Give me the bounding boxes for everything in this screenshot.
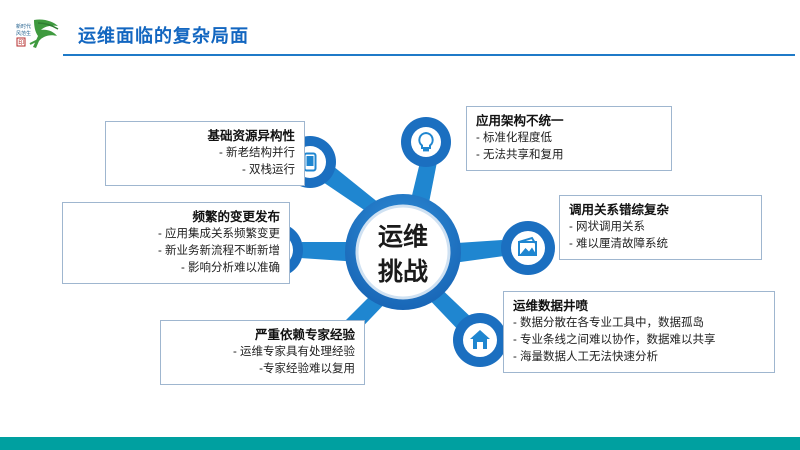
callout-architecture[interactable]: 应用架构不统一 - 标准化程度低 - 无法共享和复用 bbox=[466, 106, 672, 171]
callout-line: - 标准化程度低 bbox=[476, 130, 662, 147]
callout-line: - 海量数据人工无法快速分析 bbox=[513, 349, 765, 366]
callout-line: - 无法共享和复用 bbox=[476, 147, 662, 164]
svg-text:风范生: 风范生 bbox=[16, 30, 31, 37]
callout-line: - 数据分散在各专业工具中，数据孤岛 bbox=[513, 315, 765, 332]
page-title: 运维面临的复杂局面 bbox=[78, 22, 249, 48]
callout-line: - 运维专家具有处理经验 bbox=[170, 344, 355, 361]
callout-line: - 专业条线之间难以协作，数据难以共享 bbox=[513, 332, 765, 349]
hub-node-lightbulb[interactable] bbox=[401, 117, 451, 167]
callout-expert[interactable]: 严重依赖专家经验 - 运维专家具有处理经验 -专家经验难以复用 bbox=[160, 320, 365, 385]
callout-title: 严重依赖专家经验 bbox=[170, 326, 355, 344]
hub-center-line1: 运维 bbox=[378, 222, 428, 251]
callout-line: - 应用集成关系频繁变更 bbox=[72, 226, 280, 243]
callout-title: 运维数据井喷 bbox=[513, 297, 765, 315]
svg-text:新时代: 新时代 bbox=[16, 23, 31, 30]
hub-center: 运维 挑战 bbox=[345, 194, 461, 310]
hub-node-images[interactable] bbox=[501, 221, 555, 275]
callout-infra[interactable]: 基础资源异构性 - 新老结构并行 - 双栈运行 bbox=[105, 121, 305, 186]
callout-change[interactable]: 频繁的变更发布 - 应用集成关系频繁变更 - 新业务新流程不断新增 - 影响分析… bbox=[62, 202, 290, 284]
callout-call-relations[interactable]: 调用关系错综复杂 - 网状调用关系 - 难以厘清故障系统 bbox=[559, 195, 762, 260]
callout-line: - 影响分析难以准确 bbox=[72, 260, 280, 277]
callout-line: - 双栈运行 bbox=[115, 162, 295, 179]
callout-line: - 新老结构并行 bbox=[115, 145, 295, 162]
callout-data-explosion[interactable]: 运维数据井喷 - 数据分散在各专业工具中，数据孤岛 - 专业条线之间难以协作，数… bbox=[503, 291, 775, 373]
callout-line: - 网状调用关系 bbox=[569, 219, 752, 236]
callout-title: 应用架构不统一 bbox=[476, 112, 662, 130]
callout-title: 调用关系错综复杂 bbox=[569, 201, 752, 219]
callout-line: - 新业务新流程不断新增 bbox=[72, 243, 280, 260]
callout-line: - 难以厘清故障系统 bbox=[569, 236, 752, 253]
hub-center-line2: 挑战 bbox=[378, 258, 428, 286]
callout-title: 基础资源异构性 bbox=[115, 127, 295, 145]
svg-text:印: 印 bbox=[18, 40, 24, 47]
hub-node-home[interactable] bbox=[453, 313, 507, 367]
footer-accent-bar bbox=[0, 437, 800, 450]
header-divider bbox=[63, 54, 795, 56]
slide-canvas: 新时代 风范生 印 运维面临的复杂局面 bbox=[0, 0, 800, 450]
callout-title: 频繁的变更发布 bbox=[72, 208, 280, 226]
callout-line: -专家经验难以复用 bbox=[170, 361, 355, 378]
company-calligraphy-logo: 新时代 风范生 印 bbox=[14, 14, 66, 54]
